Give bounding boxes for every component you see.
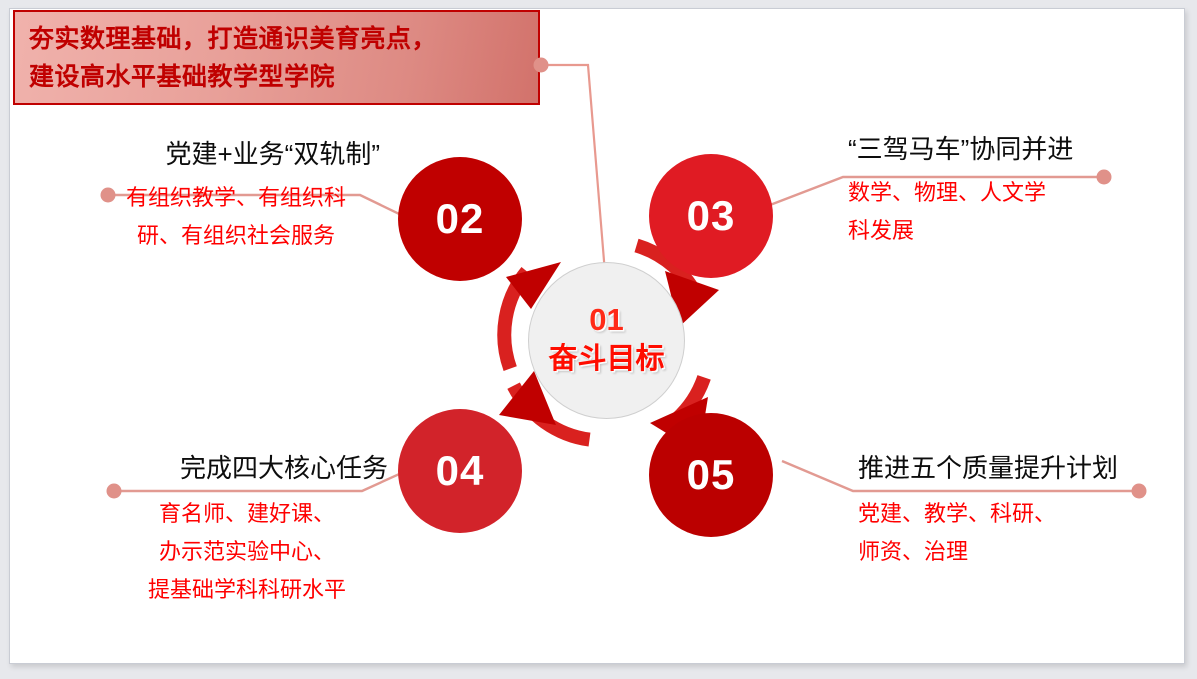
callout-detail-03: 数学、物理、人文学 科发展 <box>848 166 1178 250</box>
node-bubble-05[interactable]: 05 <box>649 413 773 537</box>
callout-node-02: 党建+业务“双轨制” 有组织教学、有组织科 研、有组织社会服务 <box>86 137 386 255</box>
callout-node-03: “三驾马车”协同并进 数学、物理、人文学 科发展 <box>848 132 1178 250</box>
callout-detail-02-line-1: 有组织教学、有组织科 <box>86 179 386 217</box>
title-banner: 夯实数理基础，打造通识美育亮点， 建设高水平基础教学型学院 <box>13 10 540 105</box>
callout-detail-04: 育名师、建好课、 办示范实验中心、 提基础学科科研水平 <box>102 485 392 609</box>
node-number-04: 04 <box>436 447 485 495</box>
callout-heading-03: “三驾马车”协同并进 <box>848 132 1178 166</box>
callout-detail-05: 党建、教学、科研、 师资、治理 <box>858 485 1185 571</box>
node-bubble-03[interactable]: 03 <box>649 154 773 278</box>
node-number-05: 05 <box>687 451 736 499</box>
callout-detail-02: 有组织教学、有组织科 研、有组织社会服务 <box>86 171 386 255</box>
callout-detail-03-line-2: 科发展 <box>848 212 1178 250</box>
callout-detail-02-line-2: 研、有组织社会服务 <box>86 217 386 255</box>
center-number: 01 <box>589 303 623 337</box>
connector-title-to-center <box>534 58 606 274</box>
node-number-02: 02 <box>436 195 485 243</box>
node-number-03: 03 <box>687 192 736 240</box>
callout-node-05: 推进五个质量提升计划 党建、教学、科研、 师资、治理 <box>858 451 1185 571</box>
callout-heading-02: 党建+业务“双轨制” <box>86 137 386 171</box>
center-label: 奋斗目标 <box>548 339 664 379</box>
callout-detail-04-line-1: 育名师、建好课、 <box>102 495 392 533</box>
callout-node-04: 完成四大核心任务 育名师、建好课、 办示范实验中心、 提基础学科科研水平 <box>102 451 392 609</box>
node-bubble-02[interactable]: 02 <box>398 157 522 281</box>
callout-heading-05: 推进五个质量提升计划 <box>858 451 1185 485</box>
callout-heading-04: 完成四大核心任务 <box>102 451 392 485</box>
node-bubble-04[interactable]: 04 <box>398 409 522 533</box>
callout-detail-04-line-3: 提基础学科科研水平 <box>102 571 392 609</box>
callout-detail-05-line-1: 党建、教学、科研、 <box>858 495 1185 533</box>
callout-detail-05-line-2: 师资、治理 <box>858 533 1185 571</box>
title-line-2: 建设高水平基础教学型学院 <box>29 58 538 96</box>
callout-detail-04-line-2: 办示范实验中心、 <box>102 533 392 571</box>
center-hub[interactable]: 01 奋斗目标 <box>528 262 685 419</box>
title-line-1: 夯实数理基础，打造通识美育亮点， <box>29 20 538 58</box>
callout-detail-03-line-1: 数学、物理、人文学 <box>848 174 1178 212</box>
slide-canvas: 夯实数理基础，打造通识美育亮点， 建设高水平基础教学型学院 <box>9 8 1185 664</box>
